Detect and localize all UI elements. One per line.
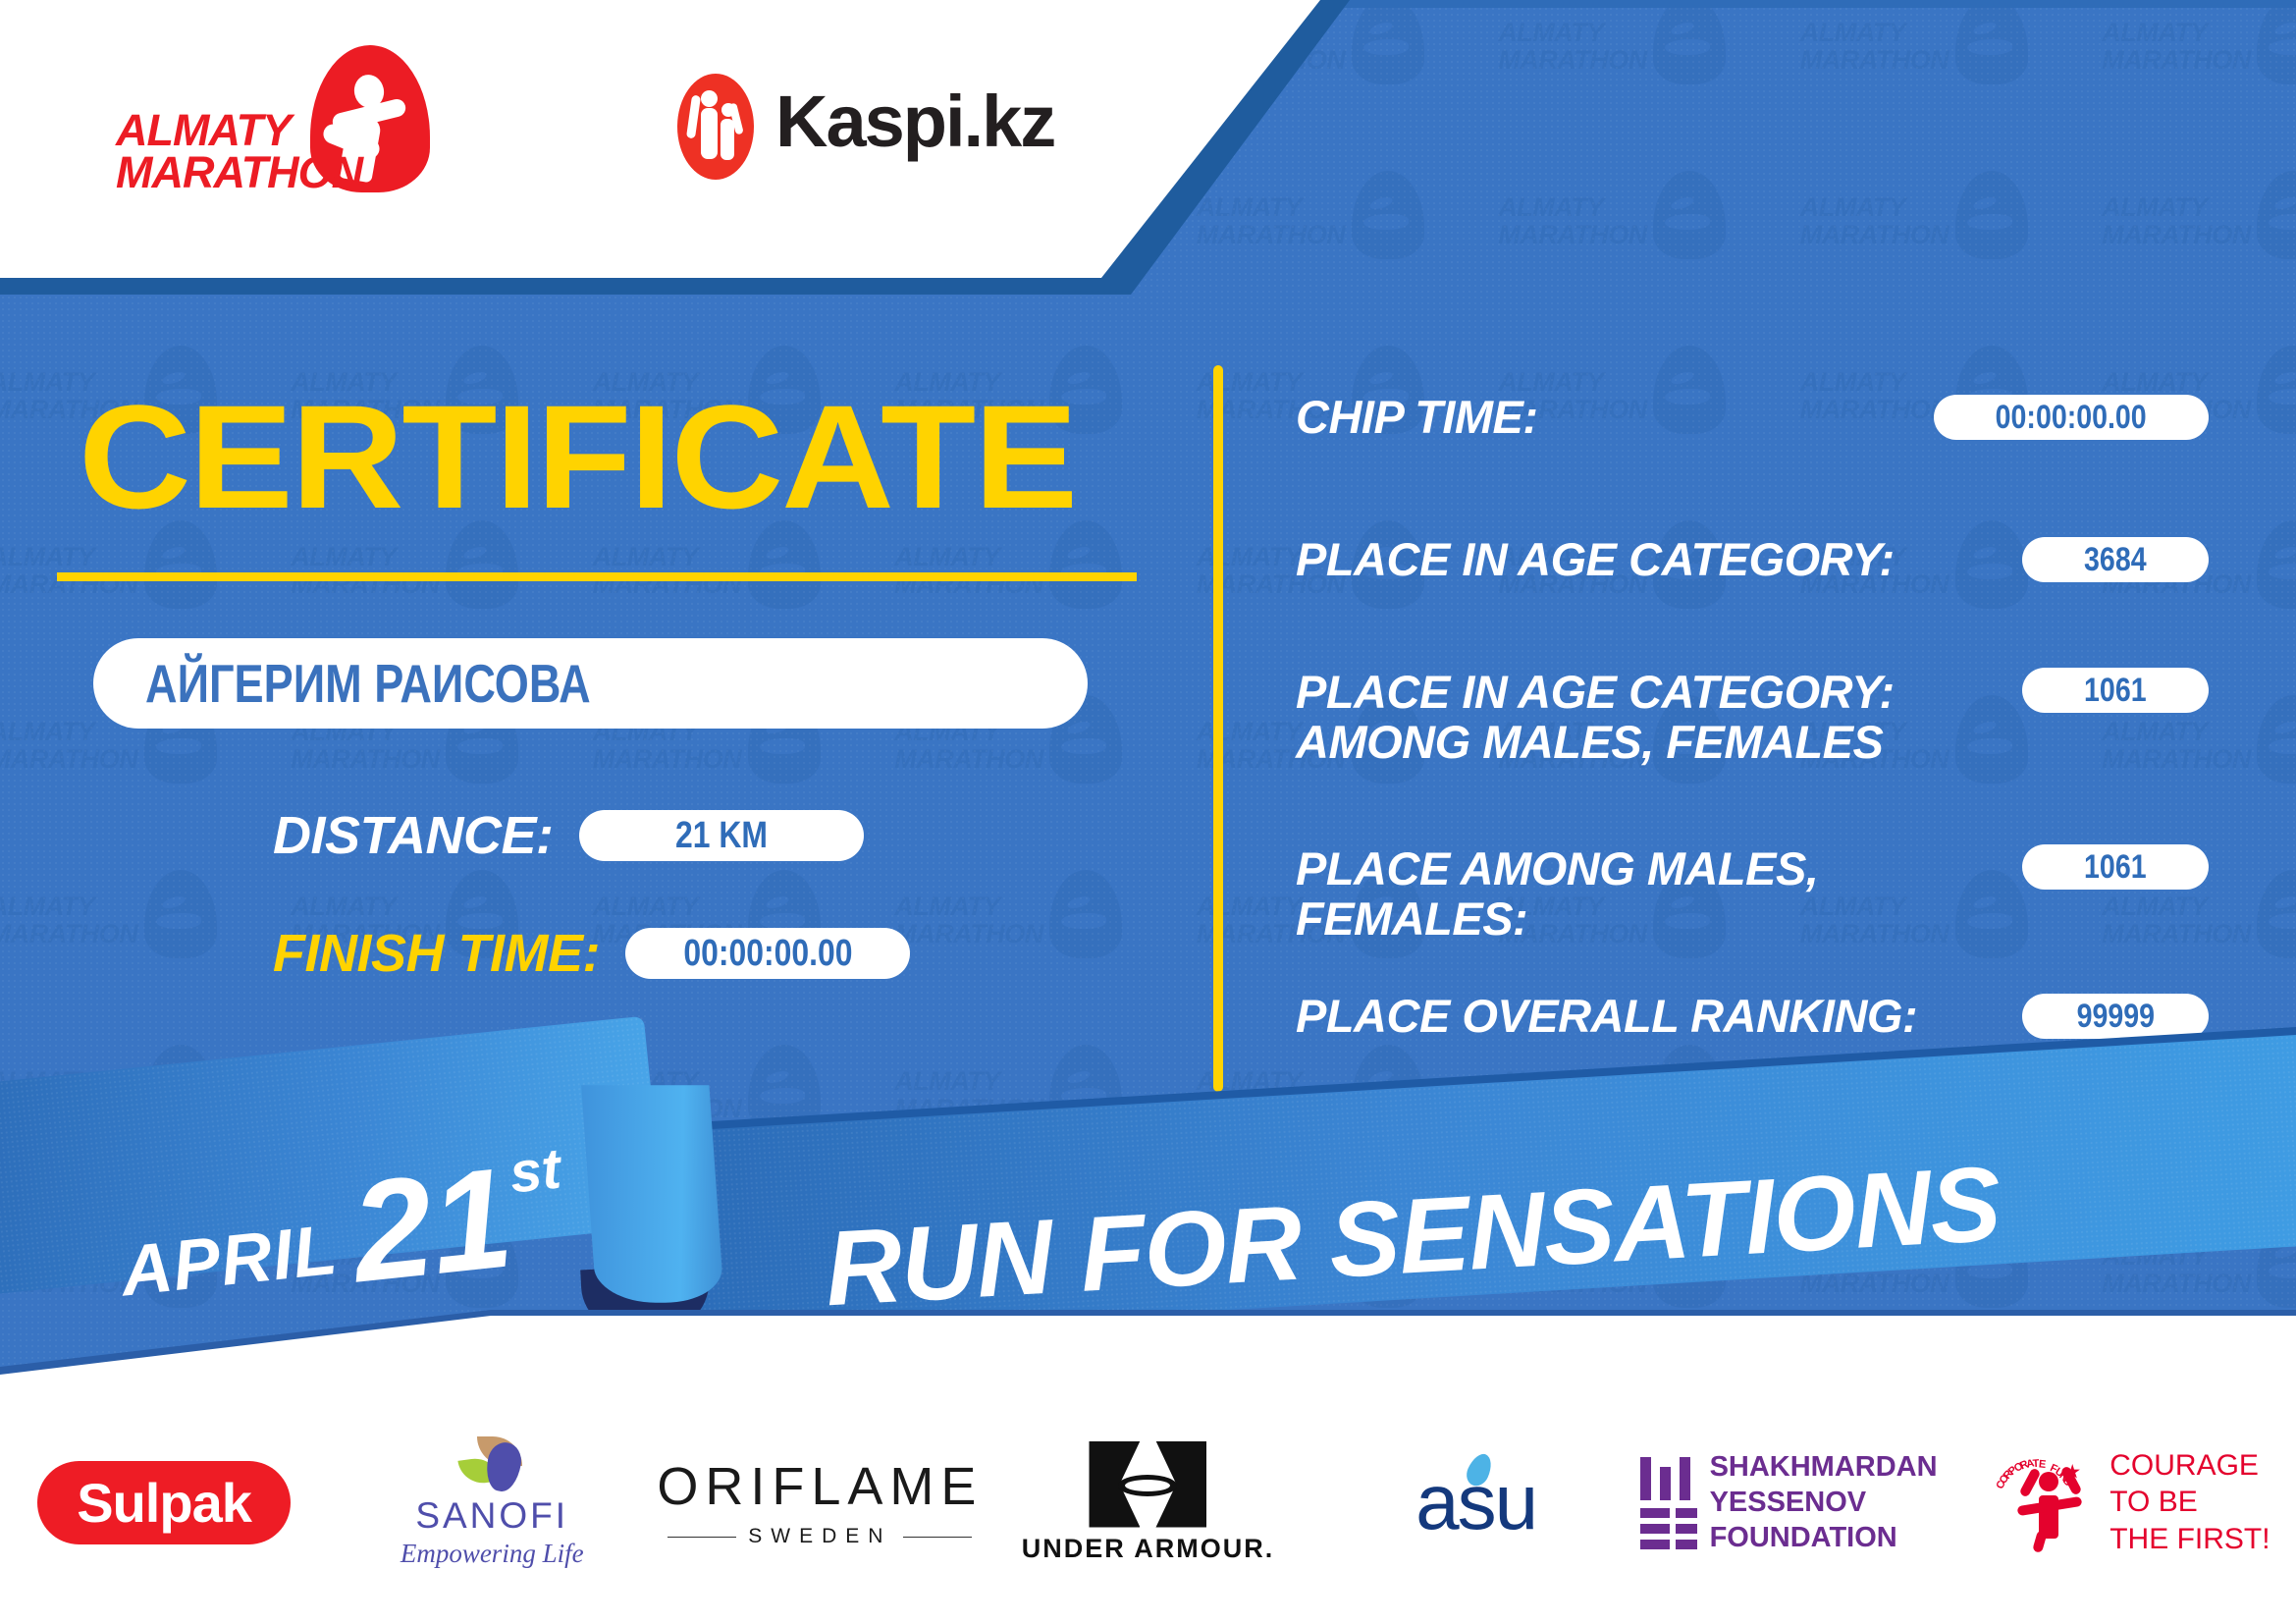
marathon-line: MARATHON: [116, 152, 400, 194]
sponsor-strip: Sulpak SANOFI Empowering Life ORIFLAME S…: [0, 1414, 2296, 1591]
result-row-place-among-males-females: PLACE AMONG MALES,FEMALES: 1061: [1296, 844, 2209, 945]
title-underline: [57, 572, 1137, 581]
result-row-place-age-category: PLACE IN AGE CATEGORY: 3684: [1296, 535, 2209, 585]
watermark-tile: ALMATYMARATHON: [2102, 0, 2296, 141]
sanofi-tagline: Empowering Life: [400, 1539, 584, 1569]
sponsor-yessenov: SHAKHMARDAN YESSENOV FOUNDATION: [1640, 1419, 1968, 1586]
watermark-tile: ALMATYMARATHON: [1197, 169, 1442, 316]
courage-logo: CORPORATE FUND COURAGE TO BE THE FIRST!: [1994, 1447, 2269, 1558]
result-label: CHIP TIME:: [1296, 393, 1538, 443]
result-row-chip-time: CHIP TIME: 00:00:00.00: [1296, 393, 2209, 443]
watermark-tile: ALMATYMARATHON: [1800, 0, 2046, 141]
finish-time-value-pill: 00:00:00.00: [625, 928, 910, 979]
kaspi-wordmark: Kaspi.kz: [775, 80, 1054, 163]
sulpak-logo: Sulpak: [37, 1461, 291, 1544]
almaty-marathon-logo: ALMATY MARATHON: [116, 67, 440, 194]
distance-label: DISTANCE:: [273, 805, 554, 866]
result-row-place-age-category-among: PLACE IN AGE CATEGORY:AMONG MALES, FEMAL…: [1296, 668, 2209, 768]
sponsor-sanofi: SANOFI Empowering Life: [328, 1419, 656, 1586]
ribbon-fold: [581, 1085, 724, 1302]
watermark-tile: ALMATYMARATHON: [1498, 169, 1743, 316]
result-label: PLACE AMONG MALES,FEMALES:: [1296, 844, 1818, 945]
oriflame-sub: SWEDEN: [657, 1525, 983, 1548]
watermark-tile: ALMATYMARATHON: [1498, 0, 1743, 141]
courage-wordmark: COURAGE TO BE THE FIRST!: [2109, 1447, 2269, 1558]
yessenov-line2: FOUNDATION: [1710, 1520, 1968, 1555]
result-value: 1061: [2084, 848, 2147, 887]
result-value-pill: 00:00:00.00: [1934, 395, 2209, 440]
sanofi-logo: SANOFI Empowering Life: [400, 1436, 584, 1569]
certificate-page: ALMATYMARATHONALMATYMARATHONALMATYMARATH…: [0, 0, 2296, 1624]
sanofi-wordmark: SANOFI: [400, 1495, 584, 1537]
result-value-pill: 99999: [2022, 994, 2209, 1039]
event-day-suffix: st: [507, 1136, 563, 1207]
finish-time-row: FINISH TIME: 00:00:00.00: [273, 923, 910, 984]
courage-line3: THE FIRST!: [2109, 1521, 2269, 1558]
almaty-line: ALMATY: [116, 110, 400, 152]
yessenov-logo: SHAKHMARDAN YESSENOV FOUNDATION: [1640, 1449, 1968, 1556]
kaspi-people-icon: [677, 74, 754, 180]
oriflame-sub-text: SWEDEN: [748, 1525, 891, 1548]
watermark-tile: ALMATYMARATHON: [1800, 169, 2046, 316]
result-value-pill: 1061: [2022, 668, 2209, 713]
courage-line2: TO BE: [2109, 1484, 2269, 1521]
watermark-tile: ALMATYMARATHON: [0, 868, 235, 1015]
courage-line1: COURAGE: [2109, 1447, 2269, 1485]
result-row-place-overall-ranking: PLACE OVERALL RANKING: 99999: [1296, 992, 2209, 1042]
courage-figure-icon: CORPORATE FUND: [1994, 1448, 2096, 1556]
sponsor-under-armour: UNDER ARMOUR.: [984, 1419, 1311, 1586]
participant-name-field: АЙГЕРИМ РАИСОВА: [93, 638, 1088, 729]
result-value: 1061: [2084, 672, 2147, 710]
event-month: APRIL: [117, 1210, 341, 1313]
oriflame-logo: ORIFLAME SWEDEN: [657, 1456, 983, 1548]
distance-row: DISTANCE: 21 KM: [273, 805, 864, 866]
participant-name: АЙГЕРИМ РАИСОВА: [145, 652, 591, 715]
sponsor-oriflame: ORIFLAME SWEDEN: [656, 1419, 984, 1586]
result-value: 3684: [2084, 541, 2147, 579]
result-value-pill: 3684: [2022, 537, 2209, 582]
finish-time-value: 00:00:00.00: [683, 933, 852, 975]
yessenov-bars-icon: [1640, 1457, 1684, 1547]
sponsor-sulpak: Sulpak: [0, 1419, 328, 1586]
asu-logo: asu: [1415, 1457, 1536, 1547]
watermark-tile: ALMATYMARATHON: [2102, 169, 2296, 316]
under-armour-logo: UNDER ARMOUR.: [1022, 1441, 1275, 1564]
page-title: CERTIFICATE: [79, 383, 1076, 530]
result-label: PLACE OVERALL RANKING:: [1296, 992, 1917, 1042]
yessenov-wordmark: SHAKHMARDAN YESSENOV FOUNDATION: [1710, 1449, 1968, 1556]
distance-value: 21 KM: [674, 815, 767, 857]
watermark-tile: ALMATYMARATHON: [894, 868, 1140, 1015]
result-value-pill: 1061: [2022, 844, 2209, 890]
event-day: 21: [347, 1157, 516, 1293]
finish-time-label: FINISH TIME:: [273, 923, 600, 984]
vertical-divider: [1213, 365, 1223, 1092]
kaspi-logo: Kaspi.kz: [677, 74, 1090, 182]
yessenov-line1: SHAKHMARDAN YESSENOV: [1710, 1449, 1968, 1521]
under-armour-wordmark: UNDER ARMOUR.: [1022, 1534, 1275, 1564]
result-value: 99999: [2076, 998, 2154, 1036]
sponsor-asu: asu: [1312, 1419, 1640, 1586]
sponsor-courage: CORPORATE FUND COURAGE TO BE THE FIRST!: [1968, 1419, 2296, 1586]
almaty-marathon-wordmark: ALMATY MARATHON: [116, 110, 400, 194]
result-label: PLACE IN AGE CATEGORY:AMONG MALES, FEMAL…: [1296, 668, 1895, 768]
result-label: PLACE IN AGE CATEGORY:: [1296, 535, 1895, 585]
under-armour-mark-icon: [1089, 1441, 1206, 1528]
result-value: 00:00:00.00: [1996, 399, 2147, 437]
sanofi-mark-icon: [448, 1436, 536, 1491]
distance-value-pill: 21 KM: [579, 810, 864, 861]
oriflame-wordmark: ORIFLAME: [657, 1456, 983, 1517]
